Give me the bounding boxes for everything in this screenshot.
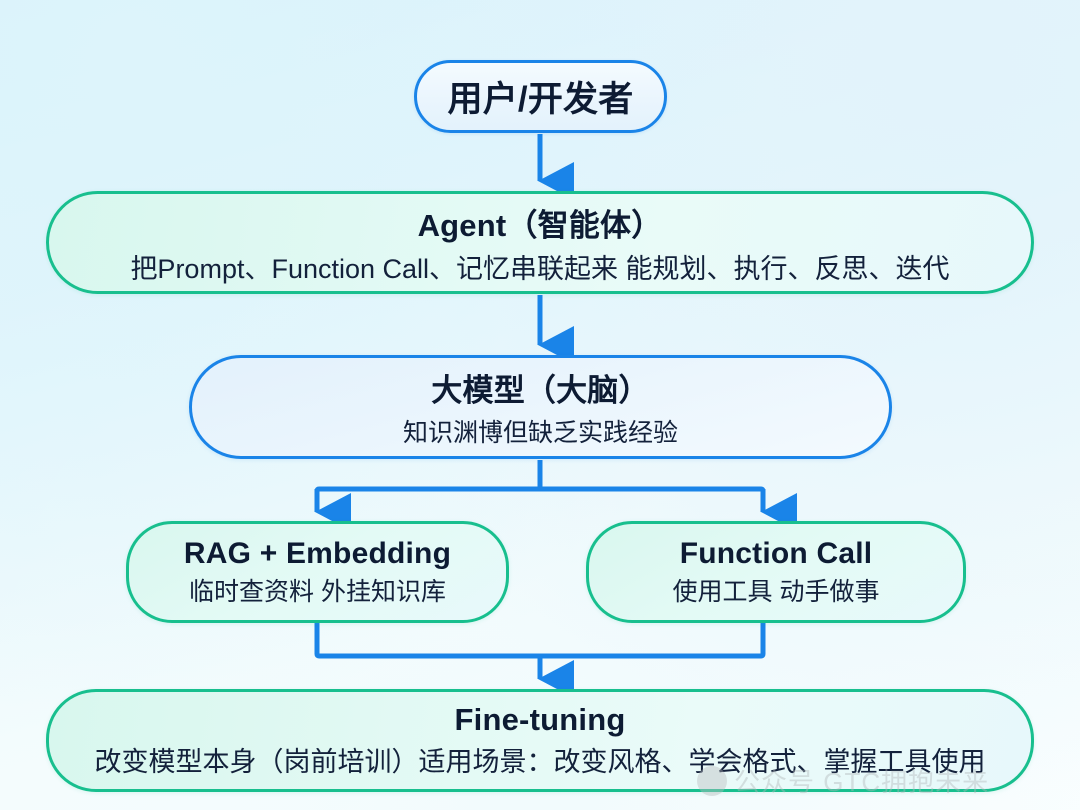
node-rag[interactable]: RAG + Embedding 临时查资料 外挂知识库: [126, 521, 509, 623]
node-user[interactable]: 用户/开发者: [414, 60, 667, 133]
node-function-call-title: Function Call: [680, 537, 873, 571]
node-function-call-subtitle: 使用工具 动手做事: [673, 572, 880, 608]
node-llm-title: 大模型（大脑）: [431, 365, 649, 410]
node-agent-title: Agent（智能体）: [418, 200, 663, 245]
node-llm-subtitle: 知识渊博但缺乏实践经验: [403, 413, 678, 449]
node-agent-subtitle: 把Prompt、Function Call、记忆串联起来 能规划、执行、反思、迭…: [130, 247, 949, 286]
node-agent[interactable]: Agent（智能体） 把Prompt、Function Call、记忆串联起来 …: [46, 191, 1034, 294]
diagram-canvas: 用户/开发者 Agent（智能体） 把Prompt、Function Call、…: [0, 0, 1080, 810]
node-rag-subtitle: 临时查资料 外挂知识库: [189, 572, 446, 608]
node-function-call[interactable]: Function Call 使用工具 动手做事: [586, 521, 966, 623]
node-fine-tuning-subtitle: 改变模型本身（岗前培训）适用场景：改变风格、学会格式、掌握工具使用: [95, 740, 986, 779]
edge-branches-to-fine-tuning: [317, 623, 763, 679]
node-rag-title: RAG + Embedding: [184, 537, 451, 571]
node-llm[interactable]: 大模型（大脑） 知识渊博但缺乏实践经验: [189, 355, 892, 459]
edge-llm-to-branches: [317, 460, 763, 512]
node-user-title: 用户/开发者: [448, 71, 634, 122]
node-fine-tuning-title: Fine-tuning: [455, 702, 626, 738]
node-fine-tuning[interactable]: Fine-tuning 改变模型本身（岗前培训）适用场景：改变风格、学会格式、掌…: [46, 689, 1034, 792]
